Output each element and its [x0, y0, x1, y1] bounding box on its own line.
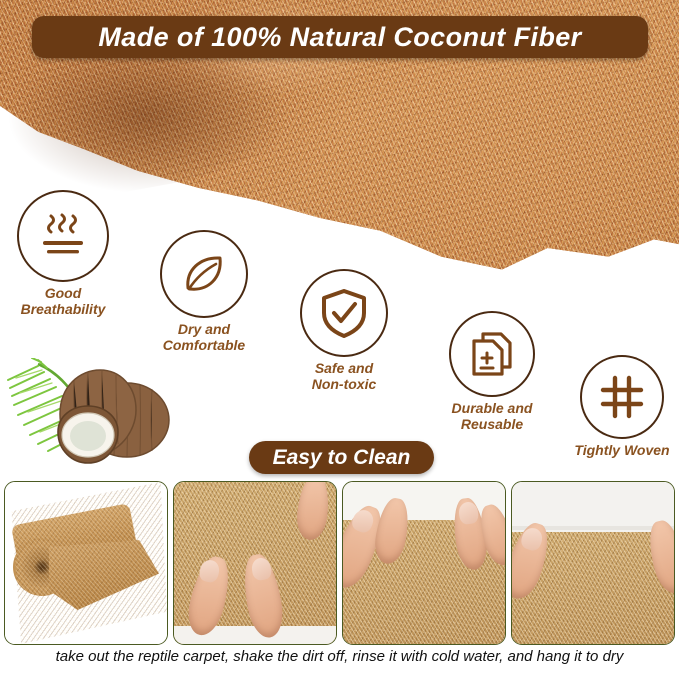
- steam-breathability-icon: [36, 209, 90, 263]
- woven-grid-icon: [598, 373, 646, 421]
- instruction-caption: take out the reptile carpet, shake the d…: [0, 648, 679, 665]
- feature-safe-and-non-toxic: Safe and Non-toxic: [294, 269, 394, 392]
- feature-icon-circle: [300, 269, 388, 357]
- feature-durable-and-reusable: Durable and Reusable: [436, 311, 548, 432]
- feature-label: Good Breathability: [21, 286, 106, 317]
- feature-dry-and-comfortable: Dry and Comfortable: [154, 230, 254, 353]
- header-banner: Made of 100% Natural Coconut Fiber: [32, 16, 648, 58]
- hand-lifting-coir-mat-photo: [342, 481, 506, 645]
- feature-label: Tightly Woven: [574, 443, 669, 459]
- feature-icon-circle: [17, 190, 109, 282]
- header-title: Made of 100% Natural Coconut Fiber: [98, 22, 581, 53]
- shield-check-icon: [319, 287, 369, 339]
- easy-to-clean-label: Easy to Clean: [273, 446, 411, 470]
- feature-icon-circle: [160, 230, 248, 318]
- feature-label: Safe and Non-toxic: [312, 361, 377, 392]
- feature-label: Dry and Comfortable: [163, 322, 245, 353]
- feature-icon-circle: [449, 311, 535, 397]
- documents-plus-icon: [467, 329, 517, 379]
- coconut-with-palm-leaf-photo: [2, 358, 217, 476]
- photo-strip: [4, 481, 675, 645]
- feature-label: Durable and Reusable: [452, 401, 533, 432]
- feature-good-breathability: Good Breathability: [16, 190, 110, 317]
- infographic-canvas: Made of 100% Natural Coconut Fiber Good …: [0, 0, 679, 678]
- leaf-icon: [178, 248, 230, 300]
- coconut-water: [70, 421, 106, 451]
- feature-icon-circle: [580, 355, 664, 439]
- easy-to-clean-banner: Easy to Clean: [249, 441, 434, 474]
- rolled-coir-mat-photo: [4, 481, 168, 645]
- feature-tightly-woven: Tightly Woven: [566, 355, 678, 459]
- fingers-pressing-coir-texture-photo: [173, 481, 337, 645]
- hands-holding-coir-mat-photo: [511, 481, 675, 645]
